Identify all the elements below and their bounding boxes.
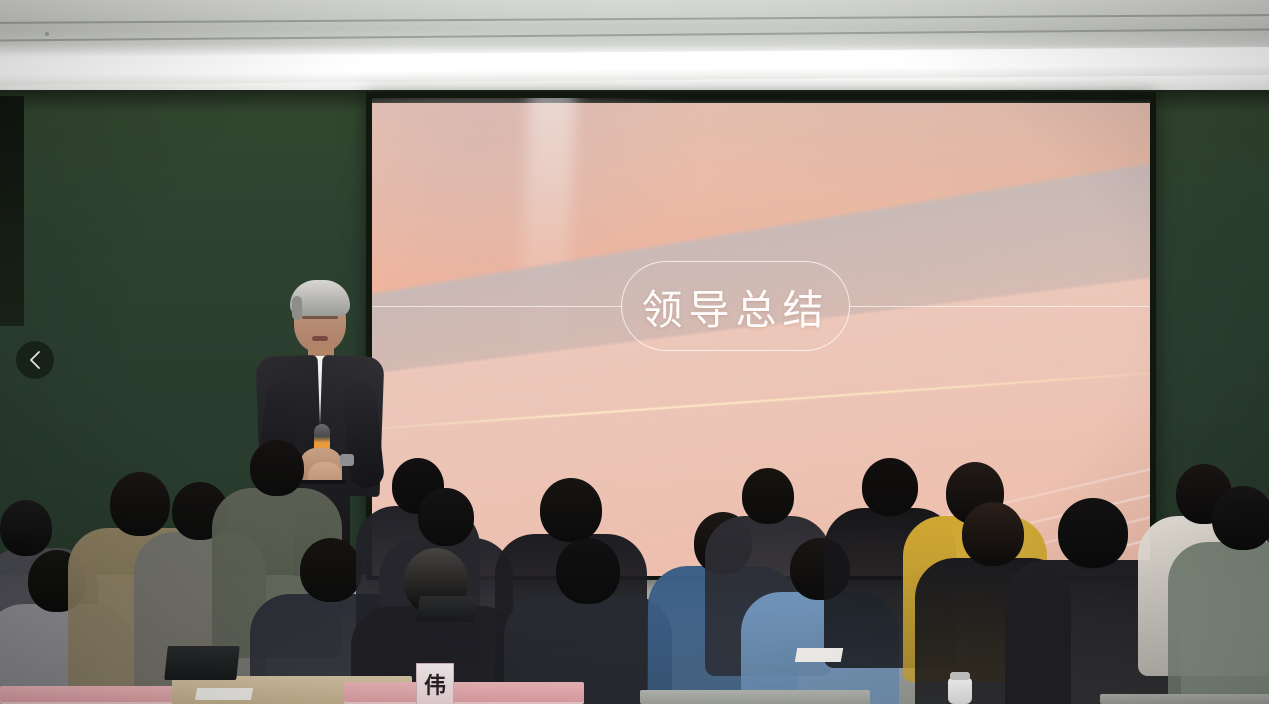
name-placard: 伟 xyxy=(416,663,454,704)
ceiling-fixture-dot xyxy=(45,32,49,36)
audience-member-head xyxy=(418,488,474,546)
back-button[interactable] xyxy=(16,341,54,379)
chevron-left-icon xyxy=(28,350,42,370)
speaker-hair xyxy=(290,280,350,316)
ceiling-seam xyxy=(0,14,1269,24)
water-bottle xyxy=(948,678,972,704)
desk-far-right xyxy=(1100,694,1269,704)
audience-member-head xyxy=(962,502,1024,566)
desk-front-center xyxy=(344,682,584,704)
laptop xyxy=(416,596,478,622)
wall-left-dark-panel xyxy=(0,96,24,326)
speaker-mouth xyxy=(312,336,328,341)
slide-title-pill: 领导总结 xyxy=(621,261,850,351)
audience-member-head xyxy=(742,468,794,524)
bottle-cap xyxy=(950,672,970,680)
audience-member-head xyxy=(0,500,52,556)
audience-member-head xyxy=(862,458,918,516)
slide-title: 领导总结 xyxy=(642,276,830,336)
desk-front-right xyxy=(640,690,870,704)
audience-member-head xyxy=(1058,498,1128,568)
audience-member-head xyxy=(250,440,304,496)
audience-member-head xyxy=(540,478,602,542)
speaker-brow xyxy=(302,316,338,319)
ceiling-seam xyxy=(0,28,1269,41)
paper-sheet xyxy=(795,648,843,662)
audience-member-head xyxy=(1212,486,1269,550)
ceiling xyxy=(0,0,1269,96)
paper-sheet xyxy=(195,688,253,700)
laptop xyxy=(164,646,240,680)
audience-member-body xyxy=(1168,542,1269,704)
desk-front-left xyxy=(0,686,200,704)
audience-member-head xyxy=(300,538,362,602)
slide-rule-right xyxy=(849,306,1150,307)
ceiling-light-strip xyxy=(0,47,1269,85)
audience-member-head xyxy=(556,538,620,604)
audience-member-head xyxy=(110,472,170,536)
slide-rule-left xyxy=(372,306,622,307)
photo-stage: 领导总结 伟 xyxy=(0,0,1269,704)
